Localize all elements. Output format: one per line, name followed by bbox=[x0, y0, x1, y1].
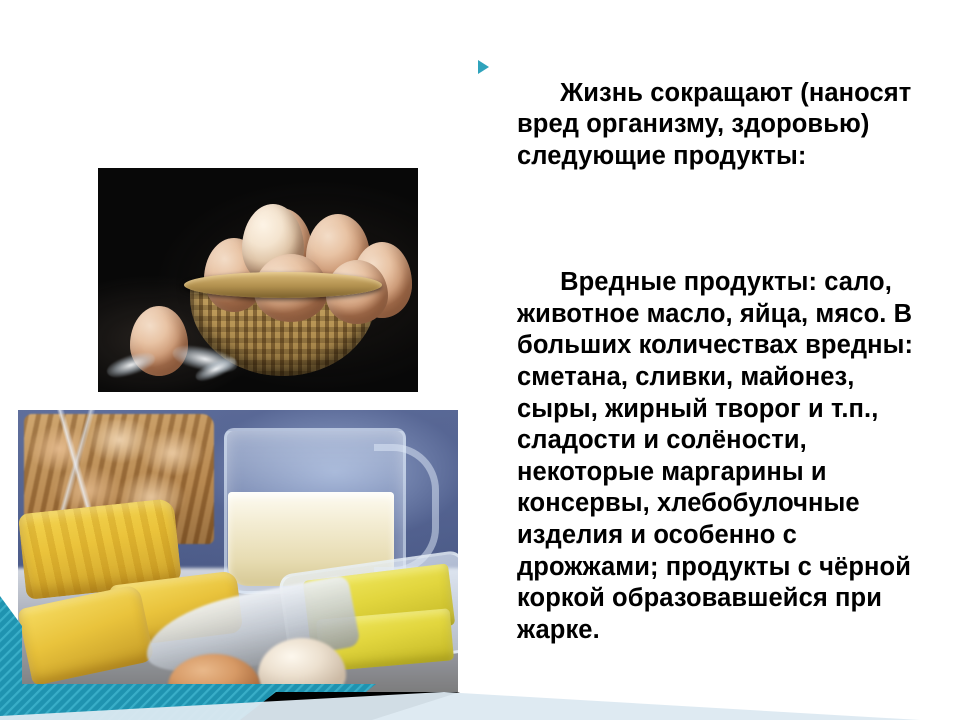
slide-canvas: Жизнь сокращают (наносят вред организму,… bbox=[0, 0, 960, 720]
black-triangle bbox=[240, 692, 460, 720]
basket-rim bbox=[184, 272, 382, 298]
bullet-paragraph: Жизнь сокращают (наносят вред организму,… bbox=[478, 46, 930, 678]
butter-milk-bread-photo bbox=[18, 410, 458, 692]
paragraph-2: Вредные продукты: сало, животное масло, … bbox=[517, 268, 920, 644]
paragraph-1: Жизнь сокращают (наносят вред организму,… bbox=[517, 79, 919, 170]
pale-blue-triangle bbox=[0, 692, 920, 720]
paragraph-gap bbox=[517, 204, 930, 236]
body-text: Жизнь сокращают (наносят вред организму,… bbox=[517, 46, 930, 678]
triangle-right-icon bbox=[478, 60, 489, 74]
eggs-in-basket-photo bbox=[98, 168, 418, 392]
